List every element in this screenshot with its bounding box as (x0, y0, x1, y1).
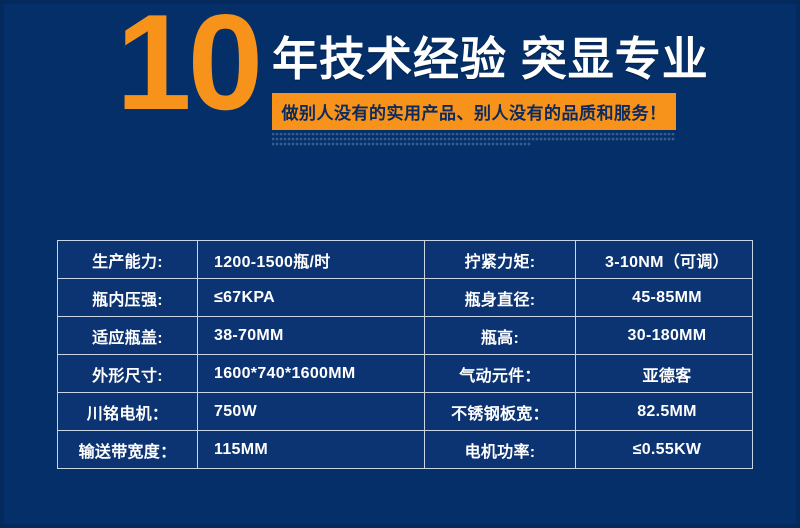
spec-value: 750W (198, 393, 425, 431)
microtext-line (272, 143, 532, 145)
specification-table: 生产能力: 1200-1500瓶/时 拧紧力矩: 3-10NM（可调） 瓶内压强… (57, 240, 753, 469)
spec-label: 外形尺寸: (58, 355, 198, 393)
spec-label: 适应瓶盖: (58, 317, 198, 355)
spec-value: 亚德客 (576, 355, 753, 393)
table-row: 瓶内压强: ≤67KPA 瓶身直径: 45-85MM (58, 279, 753, 317)
microtext-line (272, 138, 676, 140)
spec-value: ≤0.55KW (576, 431, 753, 469)
spec-value: 38-70MM (198, 317, 425, 355)
headline-text: 年技术经验 突显专业 (272, 33, 709, 85)
spec-label: 气动元件： (425, 355, 576, 393)
product-spec-banner: 10 年技术经验 突显专业 做别人没有的实用产品、别人没有的品质和服务！ 生产能… (0, 0, 800, 528)
spec-value: 1600*740*1600MM (198, 355, 425, 393)
decorative-microtext (272, 133, 676, 155)
spec-label: 拧紧力矩: (425, 241, 576, 279)
spec-value: 115MM (198, 431, 425, 469)
spec-value: 3-10NM（可调） (576, 241, 753, 279)
promo-header: 10 年技术经验 突显专业 做别人没有的实用产品、别人没有的品质和服务！ (0, 0, 800, 168)
spec-label: 生产能力: (58, 241, 198, 279)
spec-value: 82.5MM (576, 393, 753, 431)
microtext-line (272, 133, 676, 135)
spec-label: 瓶内压强: (58, 279, 198, 317)
subtitle-text: 做别人没有的实用产品、别人没有的品质和服务！ (282, 99, 667, 124)
table-row: 外形尺寸: 1600*740*1600MM 气动元件： 亚德客 (58, 355, 753, 393)
table-row: 输送带宽度： 115MM 电机功率: ≤0.55KW (58, 431, 753, 469)
table-row: 川铭电机： 750W 不锈钢板宽： 82.5MM (58, 393, 753, 431)
years-number: 10 (116, 0, 259, 130)
spec-value: 30-180MM (576, 317, 753, 355)
table-row: 适应瓶盖: 38-70MM 瓶高: 30-180MM (58, 317, 753, 355)
spec-label: 瓶身直径: (425, 279, 576, 317)
spec-value: 45-85MM (576, 279, 753, 317)
spec-label: 川铭电机： (58, 393, 198, 431)
spec-label: 瓶高: (425, 317, 576, 355)
subtitle-bar: 做别人没有的实用产品、别人没有的品质和服务！ (272, 93, 676, 130)
spec-value: ≤67KPA (198, 279, 425, 317)
table-row: 生产能力: 1200-1500瓶/时 拧紧力矩: 3-10NM（可调） (58, 241, 753, 279)
spec-label: 电机功率: (425, 431, 576, 469)
spec-value: 1200-1500瓶/时 (198, 241, 425, 279)
specification-table-body: 生产能力: 1200-1500瓶/时 拧紧力矩: 3-10NM（可调） 瓶内压强… (58, 241, 753, 469)
spec-label: 不锈钢板宽： (425, 393, 576, 431)
spec-label: 输送带宽度： (58, 431, 198, 469)
